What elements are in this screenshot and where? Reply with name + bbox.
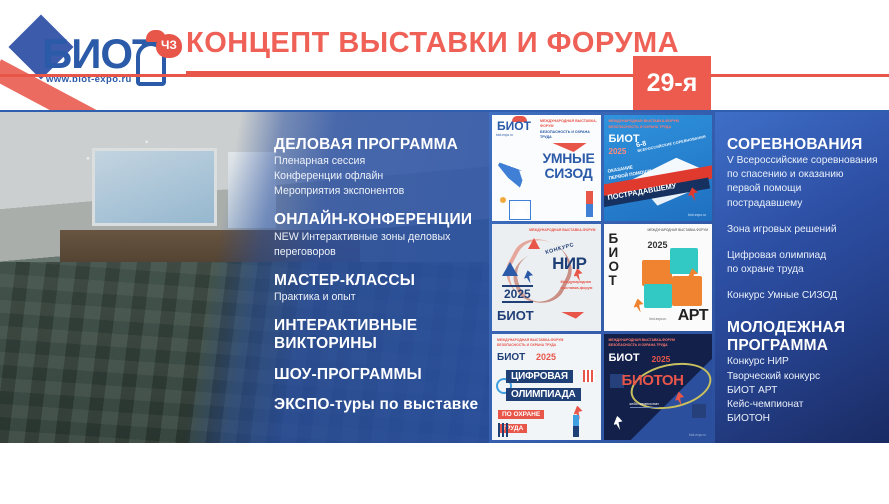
poster6-subtitle: кейс-чемпионат bbox=[630, 401, 659, 408]
poster2-dates: 6-8ВСЕРОССИЙСКИЕ СОРЕВНОВАНИЯ bbox=[636, 128, 707, 153]
left-line-1-1: Пленарная сессия bbox=[274, 154, 481, 169]
poster3-brand: БИОТ bbox=[497, 308, 534, 323]
poster6-title: БИОТОН bbox=[622, 372, 684, 389]
left-heading-3: МАСТЕР-КЛАССЫ bbox=[274, 272, 481, 290]
right-heading-2b: ПРОГРАММА bbox=[727, 337, 881, 355]
left-line-2-2: переговоров bbox=[274, 245, 481, 260]
left-program-list: ДЕЛОВАЯ ПРОГРАММА Пленарная сессия Конфе… bbox=[274, 112, 489, 443]
poster-biot-art[interactable]: МЕЖДУНАРОДНАЯ ВЫСТАВКА-ФОРУМ БИОТ 2025 b… bbox=[604, 224, 713, 330]
poster4-title: АРТ bbox=[678, 307, 708, 325]
poster3-year: 2025 bbox=[502, 285, 533, 303]
edition-badge: 29-я bbox=[633, 56, 711, 110]
right-extra-3: по охране труда bbox=[727, 263, 881, 277]
poster5-year: 2025 bbox=[536, 352, 556, 362]
poster1-header: МЕЖДУНАРОДНАЯ ВЫСТАВКА-ФОРУМБЕЗОПАСНОСТЬ… bbox=[540, 119, 601, 141]
right-extra-4: Конкурс Умные СИЗОД bbox=[727, 289, 881, 303]
helmet-label: ЧЗ bbox=[161, 38, 177, 52]
poster3-sub: Международнаявыставка-форум bbox=[560, 280, 592, 291]
right-extra-1: Зона игровых решений bbox=[727, 223, 881, 237]
left-line-2-1: NEW Интерактивные зоны деловых bbox=[274, 230, 481, 245]
poster5-header: МЕЖДУНАРОДНАЯ ВЫСТАВКА-ФОРУМБЕЗОПАСНОСТЬ… bbox=[497, 338, 563, 349]
poster6-year: 2025 bbox=[652, 354, 671, 364]
left-line-1-3: Мероприятия экспонентов bbox=[274, 184, 481, 199]
slide-root: БИОТ www.biot-expo.ru ЧЗ КОНЦЕПТ ВЫСТАВК… bbox=[0, 0, 889, 504]
poster2-header: МЕЖДУНАРОДНАЯ ВЫСТАВКА-ФОРУМБЕЗОПАСНОСТЬ… bbox=[609, 119, 679, 131]
poster5-title-2: ОЛИМПИАДА bbox=[506, 388, 581, 401]
biot-logo[interactable]: БИОТ www.biot-expo.ru ЧЗ bbox=[6, 14, 196, 92]
poster6-footer: biot-expo.ru bbox=[689, 433, 706, 437]
poster4-url: biot-expo.ru bbox=[650, 317, 667, 321]
poster-bioton[interactable]: МЕЖДУНАРОДНАЯ ВЫСТАВКА-ФОРУМБЕЗОПАСНОСТЬ… bbox=[604, 334, 713, 440]
right-line-1-4: пострадавшему bbox=[727, 197, 881, 211]
poster3-header: МЕЖДУНАРОДНАЯ ВЫСТАВКА-ФОРУМ bbox=[529, 228, 595, 232]
poster-cifrovaya-olimpiada[interactable]: МЕЖДУНАРОДНАЯ ВЫСТАВКА-ФОРУМБЕЗОПАСНОСТЬ… bbox=[492, 334, 601, 440]
right-line-2-3: БИОТ АРТ bbox=[727, 384, 881, 398]
left-heading-6: ЭКСПО-туры по выставке bbox=[274, 396, 481, 414]
poster-grid: БИОТ biot-expo.ru МЕЖДУНАРОДНАЯ ВЫСТАВКА… bbox=[489, 112, 715, 443]
poster1-brand: БИОТ bbox=[497, 119, 531, 133]
right-heading-1: СОРЕВНОВАНИЯ bbox=[727, 136, 881, 154]
poster3-title: НИР bbox=[552, 254, 586, 274]
right-line-2-1: Конкурс НИР bbox=[727, 355, 881, 369]
edition-badge-label: 29-я bbox=[647, 69, 698, 98]
content-strip: ДЕЛОВАЯ ПРОГРАММА Пленарная сессия Конфе… bbox=[0, 112, 889, 443]
poster-konkurs-nir[interactable]: МЕЖДУНАРОДНАЯ ВЫСТАВКА-ФОРУМ КОНКУРС НИР… bbox=[492, 224, 601, 330]
poster5-brand: БИОТ bbox=[497, 352, 525, 363]
left-heading-1: ДЕЛОВАЯ ПРОГРАММА bbox=[274, 136, 481, 154]
right-line-1-1: V Всероссийские соревнования bbox=[727, 154, 881, 168]
poster2-year: 2025 bbox=[609, 147, 627, 156]
left-heading-5: ШОУ-ПРОГРАММЫ bbox=[274, 366, 481, 384]
left-panel: ДЕЛОВАЯ ПРОГРАММА Пленарная сессия Конфе… bbox=[0, 112, 489, 443]
poster6-brand: БИОТ bbox=[609, 352, 640, 364]
poster1-brand-sub: biot-expo.ru bbox=[496, 133, 513, 137]
title-underline bbox=[186, 71, 560, 75]
page-title: КОНЦЕПТ ВЫСТАВКИ И ФОРУМА bbox=[186, 27, 679, 60]
right-line-2-5: БИОТОН bbox=[727, 412, 881, 426]
right-panel: СОРЕВНОВАНИЯ V Всероссийские соревновани… bbox=[715, 112, 889, 443]
poster5-tag-1: ПО ОХРАНЕ bbox=[498, 410, 544, 419]
right-heading-2: МОЛОДЕЖНАЯ bbox=[727, 319, 881, 337]
helmet-icon: ЧЗ bbox=[132, 28, 184, 86]
poster4-year: 2025 bbox=[648, 240, 668, 250]
poster-umnye-sizod[interactable]: БИОТ biot-expo.ru МЕЖДУНАРОДНАЯ ВЫСТАВКА… bbox=[492, 115, 601, 221]
right-line-1-3: первой помощи bbox=[727, 182, 881, 196]
poster5-title-1: ЦИФРОВАЯ bbox=[506, 370, 573, 383]
left-line-1-2: Конференции офлайн bbox=[274, 169, 481, 184]
left-heading-2: ОНЛАЙН-КОНФЕРЕНЦИИ bbox=[274, 211, 481, 229]
right-line-1-2: по спасению и оказанию bbox=[727, 168, 881, 182]
left-heading-4: ИНТЕРАКТИВНЫЕ bbox=[274, 317, 481, 335]
poster1-title: УМНЫЕСИЗОД bbox=[542, 151, 594, 180]
slide-header: БИОТ www.biot-expo.ru ЧЗ КОНЦЕПТ ВЫСТАВК… bbox=[0, 0, 889, 110]
right-line-2-4: Кейс-чемпионат bbox=[727, 398, 881, 412]
right-line-2-2: Творческий конкурс bbox=[727, 370, 881, 384]
right-extra-2: Цифровая олимпиад bbox=[727, 249, 881, 263]
poster-pervaya-pomoshch[interactable]: МЕЖДУНАРОДНАЯ ВЫСТАВКА-ФОРУМБЕЗОПАСНОСТЬ… bbox=[604, 115, 713, 221]
poster1-figure-icon bbox=[498, 151, 544, 193]
left-line-3-1: Практика и опыт bbox=[274, 290, 481, 305]
slide-footer: 3 bbox=[0, 443, 889, 504]
poster6-header: МЕЖДУНАРОДНАЯ ВЫСТАВКА-ФОРУМБЕЗОПАСНОСТЬ… bbox=[609, 338, 675, 349]
poster2-footer: biot-expo.ru bbox=[688, 213, 706, 217]
left-heading-4b: ВИКТОРИНЫ bbox=[274, 335, 481, 353]
poster4-header: МЕЖДУНАРОДНАЯ ВЫСТАВКА-ФОРУМ bbox=[647, 228, 708, 232]
poster4-brand-vertical: БИОТ bbox=[609, 232, 620, 288]
